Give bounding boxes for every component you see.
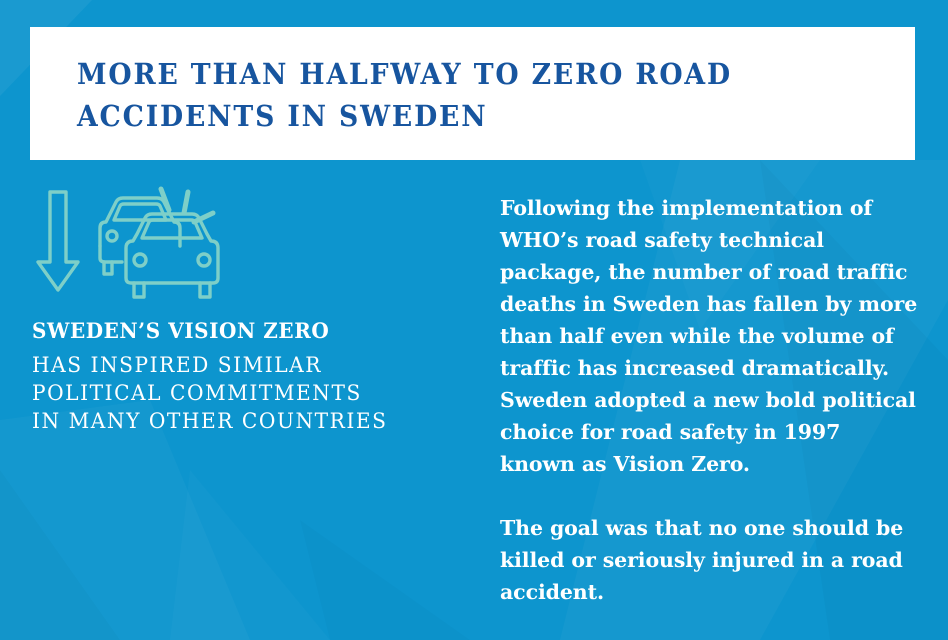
left-headline: SWEDEN’S VISION ZERO <box>32 318 439 344</box>
car-front-icon <box>126 214 218 297</box>
impact-burst-icon <box>161 189 213 222</box>
body-paragraph-1: Following the implementation of WHO’s ro… <box>500 192 920 480</box>
page-title: MORE THAN HALFWAY TO ZERO ROAD ACCIDENTS… <box>77 53 804 137</box>
right-column: Following the implementation of WHO’s ro… <box>500 192 920 608</box>
infographic-canvas: MORE THAN HALFWAY TO ZERO ROAD ACCIDENTS… <box>0 0 948 640</box>
title-card: MORE THAN HALFWAY TO ZERO ROAD ACCIDENTS… <box>30 27 915 160</box>
down-arrow-icon <box>38 192 78 290</box>
body-paragraph-2: The goal was that no one should be kille… <box>500 512 920 608</box>
left-subtext: HAS INSPIRED SIMILAR POLITICAL COMMITMEN… <box>32 351 443 435</box>
left-column: SWEDEN’S VISION ZERO HAS INSPIRED SIMILA… <box>30 186 460 435</box>
car-crash-decline-icon <box>30 186 220 304</box>
